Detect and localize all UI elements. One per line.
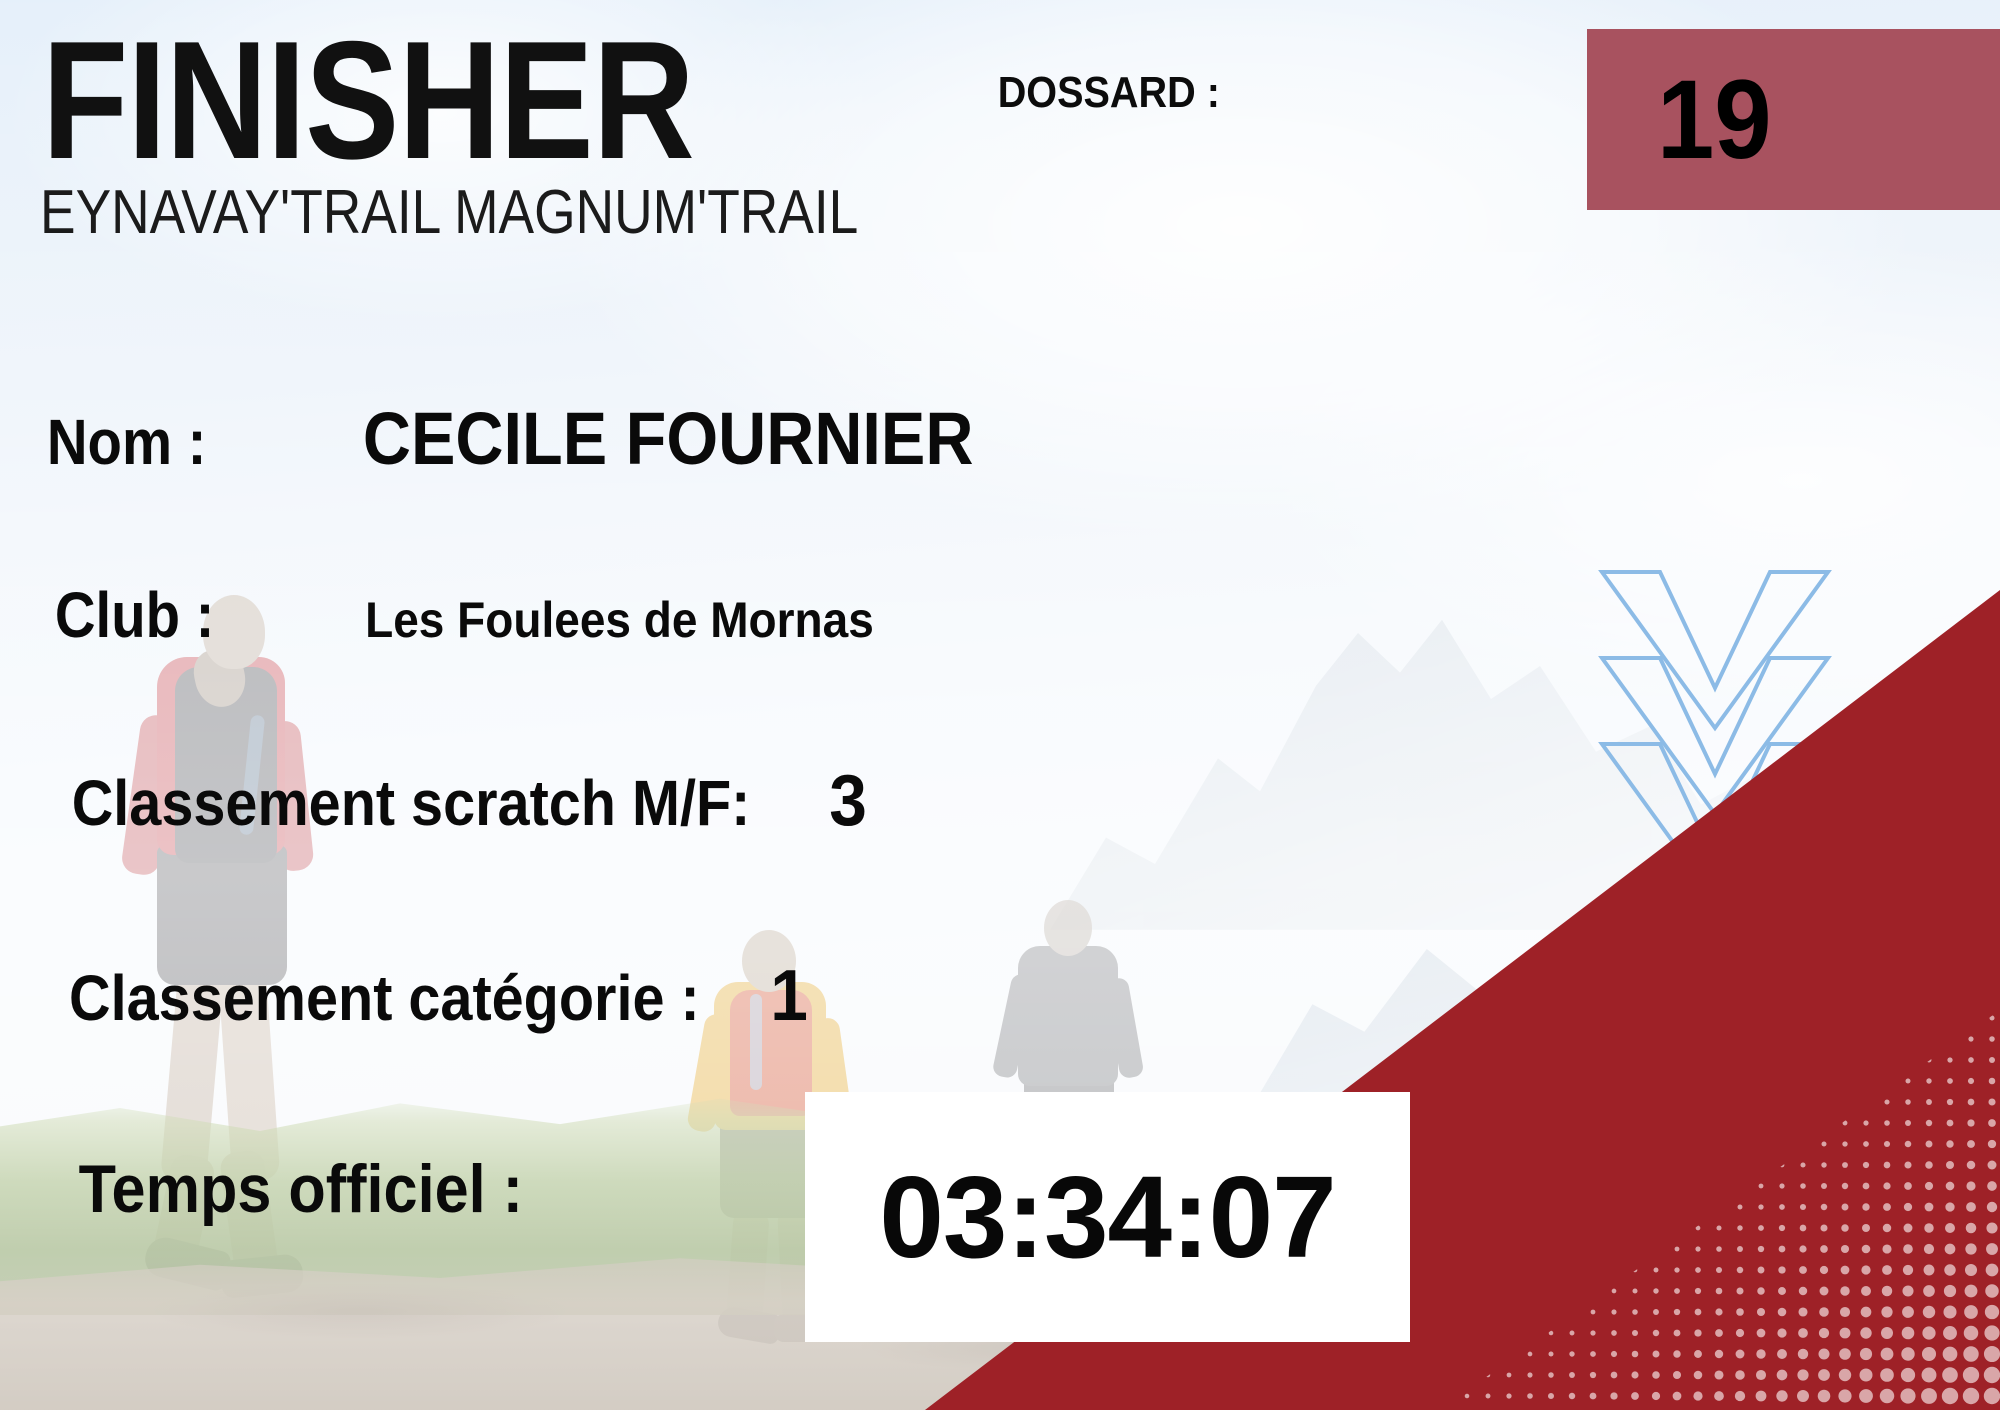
temps-officiel-label: Temps officiel : — [79, 1150, 523, 1228]
classement-scratch-label: Classement scratch M/F: — [72, 766, 751, 840]
row-club: Club : Les Foulees de Mornas — [44, 578, 896, 652]
classement-categorie-label: Classement catégorie : — [69, 961, 700, 1035]
event-subtitle: EYNAVAY'TRAIL MAGNUM'TRAIL — [40, 182, 858, 244]
nom-label: Nom : — [47, 405, 207, 479]
temps-officiel-box: 03:34:07 — [805, 1092, 1410, 1342]
dossard-number: 19 — [1657, 64, 1772, 176]
page-title: FINISHER — [42, 16, 694, 184]
club-label: Club : — [55, 578, 215, 652]
row-classement-categorie: Classement catégorie : 1 — [34, 955, 809, 1037]
nom-value: CECILE FOURNIER — [363, 396, 974, 481]
temps-officiel-value: 03:34:07 — [879, 1159, 1335, 1275]
row-temps-officiel: Temps officiel : — [54, 1150, 548, 1228]
club-value: Les Foulees de Mornas — [365, 591, 874, 649]
dossard-badge: 19 — [1587, 29, 2000, 210]
row-classement-scratch: Classement scratch M/F: 3 — [34, 760, 868, 842]
classement-categorie-value: 1 — [770, 955, 808, 1037]
finisher-certificate: FINISHER EYNAVAY'TRAIL MAGNUM'TRAIL DOSS… — [0, 0, 2000, 1410]
row-nom: Nom : CECILE FOURNIER — [36, 396, 1008, 481]
dossard-label: DOSSARD : — [998, 68, 1220, 118]
classement-scratch-value: 3 — [829, 760, 867, 842]
